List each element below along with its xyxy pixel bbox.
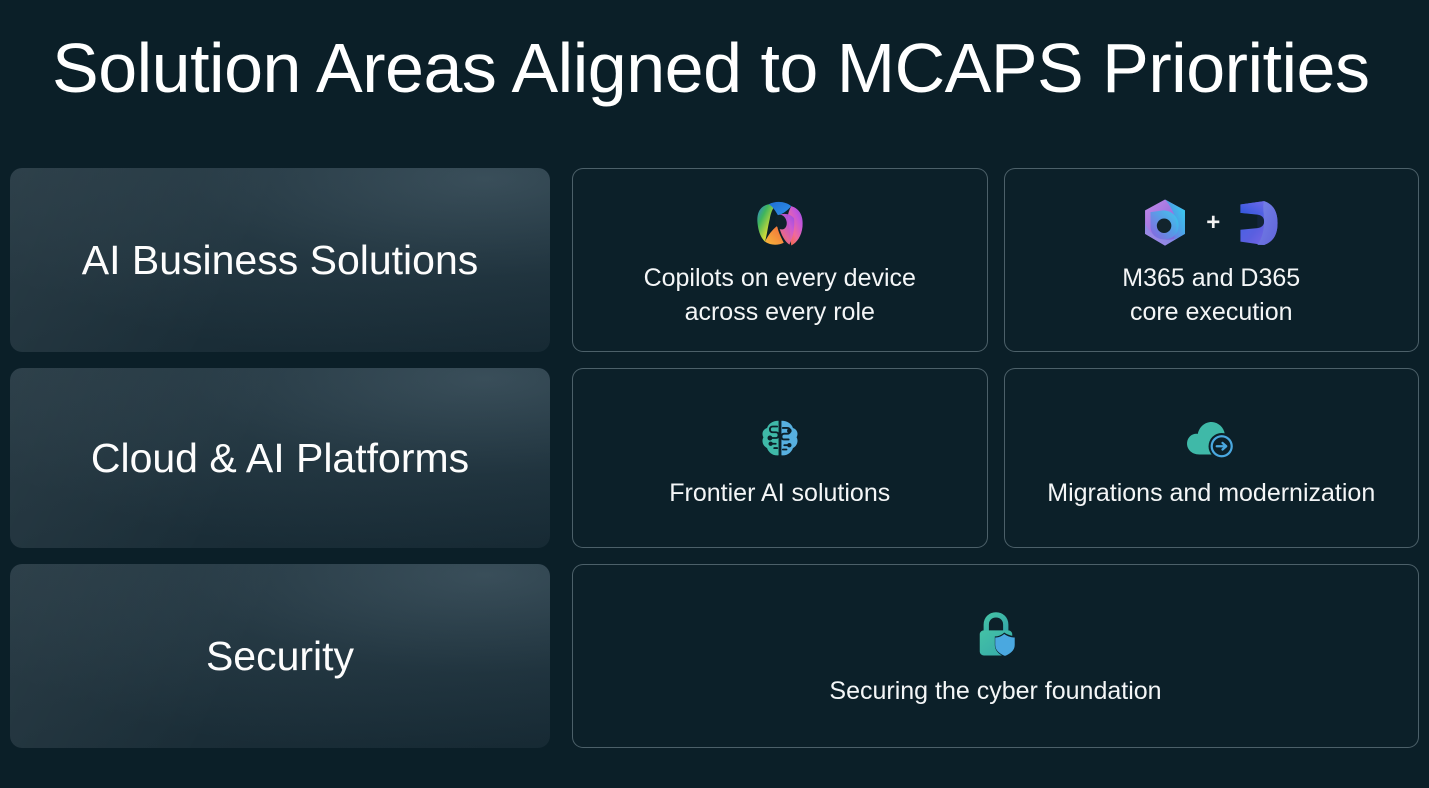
card-label: Frontier AI solutions	[669, 476, 890, 510]
lock-shield-icon	[964, 604, 1028, 668]
card-m365-d365-core-execution[interactable]: +	[1004, 168, 1420, 352]
m365-d365-icon-group: +	[1126, 191, 1296, 255]
row-cloud-ai-platforms: Cloud & AI Platforms	[10, 368, 1419, 548]
card-label: M365 and D365 core execution	[1122, 261, 1300, 329]
row-security: Security	[10, 564, 1419, 748]
category-label: Security	[206, 633, 354, 680]
m365-icon	[1136, 194, 1194, 252]
card-securing-cyber-foundation[interactable]: Securing the cyber foundation	[572, 564, 1419, 748]
ai-brain-icon	[748, 406, 812, 470]
cards-row-1: Copilots on every device across every ro…	[572, 168, 1419, 352]
card-migrations-modernization[interactable]: Migrations and modernization	[1004, 368, 1420, 548]
category-label: Cloud & AI Platforms	[91, 435, 469, 482]
plus-icon: +	[1204, 211, 1222, 235]
row-ai-business-solutions: AI Business Solutions	[10, 168, 1419, 352]
card-frontier-ai-solutions[interactable]: Frontier AI solutions	[572, 368, 988, 548]
cards-row-3: Securing the cyber foundation	[572, 564, 1419, 748]
cloud-migration-icon	[1179, 406, 1243, 470]
category-panel-ai-business-solutions[interactable]: AI Business Solutions	[10, 168, 550, 352]
cards-row-2: Frontier AI solutions	[572, 368, 1419, 548]
page-title: Solution Areas Aligned to MCAPS Prioriti…	[52, 22, 1392, 114]
copilot-icon	[748, 191, 812, 255]
solution-areas-grid: AI Business Solutions	[10, 168, 1419, 748]
category-panel-cloud-ai-platforms[interactable]: Cloud & AI Platforms	[10, 368, 550, 548]
slide-root: Solution Areas Aligned to MCAPS Prioriti…	[0, 0, 1429, 788]
category-label: AI Business Solutions	[82, 237, 479, 284]
card-label: Copilots on every device across every ro…	[644, 261, 916, 329]
card-label: Migrations and modernization	[1047, 476, 1375, 510]
category-panel-security[interactable]: Security	[10, 564, 550, 748]
d365-icon	[1232, 196, 1286, 250]
card-copilots-every-device[interactable]: Copilots on every device across every ro…	[572, 168, 988, 352]
card-label: Securing the cyber foundation	[829, 674, 1161, 708]
